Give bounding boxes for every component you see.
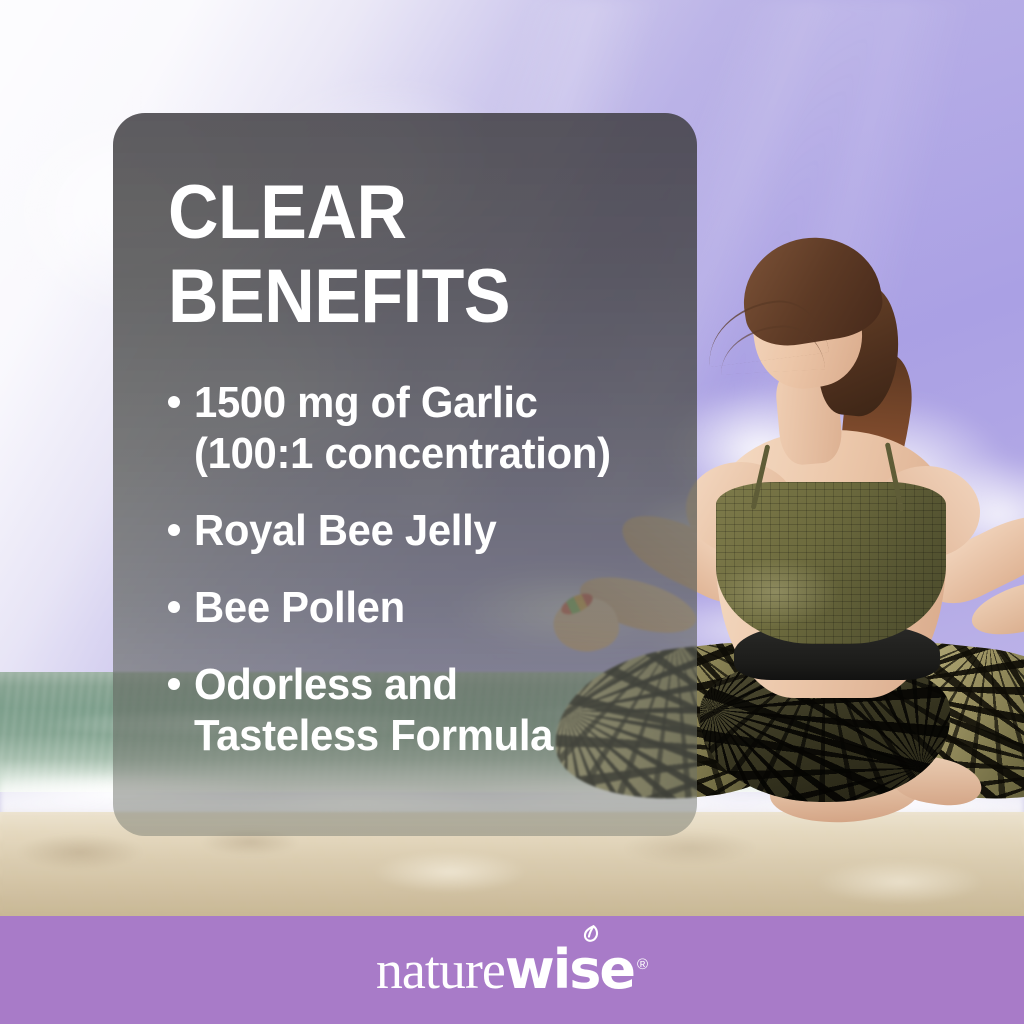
benefit-text: Odorless and Tasteless Formula xyxy=(194,659,553,761)
bullet-dot-icon xyxy=(168,678,180,690)
list-item: 1500 mg of Garlic (100:1 concentration) xyxy=(168,377,697,479)
benefits-card: CLEAR BENEFITS 1500 mg of Garlic (100:1 … xyxy=(113,113,697,836)
benefit-text: Royal Bee Jelly xyxy=(194,505,496,556)
list-item: Royal Bee Jelly xyxy=(168,505,697,556)
leaf-icon xyxy=(579,923,601,949)
logo-text-nature: nature xyxy=(376,943,505,997)
page-title: CLEAR BENEFITS xyxy=(168,171,655,339)
benefit-text: 1500 mg of Garlic (100:1 concentration) xyxy=(194,377,611,479)
bullet-dot-icon xyxy=(168,396,180,408)
logo-text-wise: wise xyxy=(505,943,634,997)
bullet-dot-icon xyxy=(168,524,180,536)
brand-footer: nature wise ® xyxy=(0,916,1024,1024)
naturewise-logo: nature wise ® xyxy=(376,943,648,997)
benefits-list: 1500 mg of Garlic (100:1 concentration) … xyxy=(168,377,697,761)
list-item: Odorless and Tasteless Formula xyxy=(168,659,697,761)
product-benefits-graphic: CLEAR BENEFITS 1500 mg of Garlic (100:1 … xyxy=(0,0,1024,1024)
bullet-dot-icon xyxy=(168,601,180,613)
list-item: Bee Pollen xyxy=(168,582,697,633)
benefit-text: Bee Pollen xyxy=(194,582,405,633)
registered-trademark-icon: ® xyxy=(637,957,648,972)
